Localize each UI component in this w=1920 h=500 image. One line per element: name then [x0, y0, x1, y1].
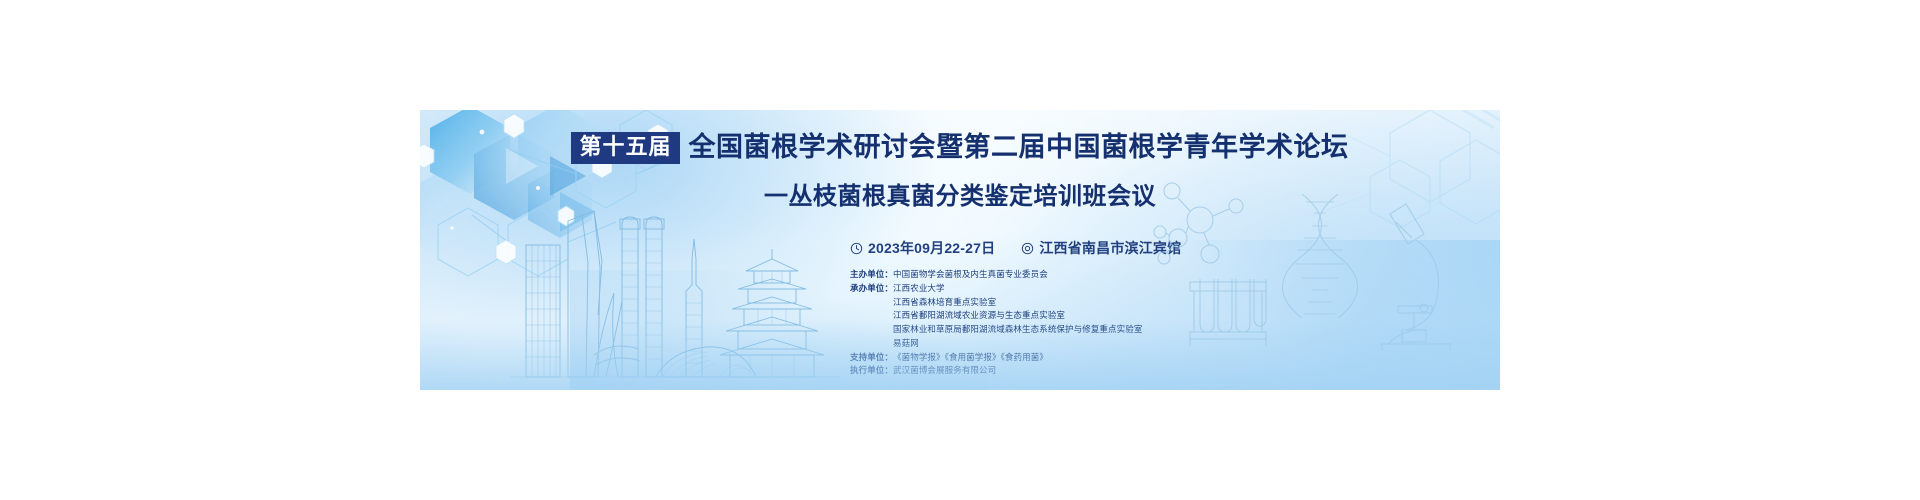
event-date-text: 2023年09月22-27日 — [868, 238, 995, 258]
page-root: 第十五届 全国菌根学术研讨会暨第二届中国菌根学青年学术论坛 一丛枝菌根真菌分类鉴… — [0, 0, 1920, 500]
organiser-label: 承办单位： — [850, 282, 893, 296]
subtitle: 一丛枝菌根真菌分类鉴定培训班会议 — [420, 176, 1500, 211]
event-venue-text: 江西省南昌市滨江宾馆 — [1039, 238, 1181, 258]
nanchang-skyline-icon — [510, 205, 840, 390]
support-values: 《菌物学报》《食用菌学报》《食药用菌》 — [893, 351, 1142, 365]
organiser-details: 主办单位： 中国菌物学会菌根及内生真菌专业委员会 承办单位： 江西农业大学 江西… — [850, 268, 1142, 378]
organiser-row: 承办单位： 江西农业大学 江西省森林培育重点实验室 江西省鄱阳湖流域农业资源与生… — [850, 282, 1142, 351]
event-venue: 江西省南昌市滨江宾馆 — [1021, 238, 1181, 258]
title-line-one: 第十五届 全国菌根学术研讨会暨第二届中国菌根学青年学术论坛 — [420, 132, 1500, 164]
test-tube-rack-icon — [1190, 279, 1266, 346]
execution-value: 武汉菌博会展服务有限公司 — [893, 364, 1142, 378]
organiser-value: 江西省森林培育重点实验室 — [893, 296, 1142, 310]
location-pin-icon — [1021, 242, 1034, 255]
support-label: 支持单位： — [850, 351, 893, 365]
host-value: 中国菌物学会菌根及内生真菌专业委员会 — [893, 268, 1142, 282]
execution-row: 执行单位： 武汉菌博会展服务有限公司 — [850, 364, 1142, 378]
microscope-icon — [1380, 204, 1452, 350]
host-label: 主办单位： — [850, 268, 893, 282]
dna-helix-icon — [1283, 194, 1358, 318]
organiser-values: 江西农业大学 江西省森林培育重点实验室 江西省鄱阳湖流域农业资源与生态重点实验室… — [893, 282, 1142, 351]
execution-values: 武汉菌博会展服务有限公司 — [893, 364, 1142, 378]
title-block: 第十五届 全国菌根学术研讨会暨第二届中国菌根学青年学术论坛 一丛枝菌根真菌分类鉴… — [420, 132, 1500, 211]
organiser-value: 国家林业和草原局鄱阳湖流域森林生态系统保护与修复重点实验室 — [893, 323, 1142, 337]
support-value: 《菌物学报》《食用菌学报》《食药用菌》 — [893, 351, 1142, 365]
corner-gradient-decor — [1120, 240, 1500, 390]
host-values: 中国菌物学会菌根及内生真菌专业委员会 — [893, 268, 1142, 282]
page-title: 全国菌根学术研讨会暨第二届中国菌根学青年学术论坛 — [689, 132, 1349, 163]
support-row: 支持单位： 《菌物学报》《食用菌学报》《食药用菌》 — [850, 351, 1142, 365]
conference-banner: 第十五届 全国菌根学术研讨会暨第二届中国菌根学青年学术论坛 一丛枝菌根真菌分类鉴… — [420, 110, 1500, 390]
host-row: 主办单位： 中国菌物学会菌根及内生真菌专业委员会 — [850, 268, 1142, 282]
clock-icon — [850, 242, 863, 255]
event-date: 2023年09月22-27日 — [850, 238, 995, 258]
meta-row: 2023年09月22-27日 江西省南昌市滨江宾馆 — [850, 238, 1181, 258]
organiser-value: 江西农业大学 — [893, 282, 1142, 296]
execution-label: 执行单位： — [850, 364, 893, 378]
organiser-value: 江西省鄱阳湖流域农业资源与生态重点实验室 — [893, 309, 1142, 323]
organiser-value: 易菇网 — [893, 337, 1142, 351]
edition-badge: 第十五届 — [571, 132, 679, 164]
